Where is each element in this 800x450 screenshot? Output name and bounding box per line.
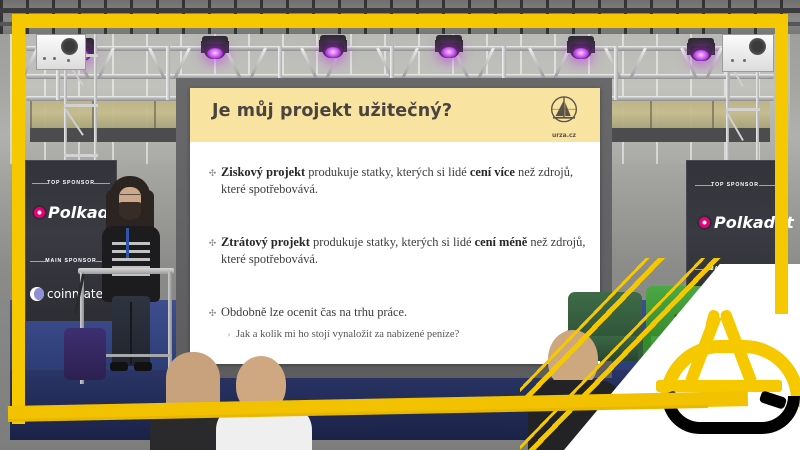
slide-body: ✣ Ziskový projekt produkuje statky, kter… <box>190 142 600 364</box>
coinmate-logo-mark-left <box>30 287 44 301</box>
top-sponsor-label-right: TOP SPONSOR <box>687 182 783 188</box>
bullet-2-mid: produkuje statky, kterých si lidé <box>310 235 475 249</box>
bullet-1-mid: produkuje statky, kterých si lidé <box>305 165 470 179</box>
moving-head-light <box>200 36 230 62</box>
broadcast-video-frame: TOP SPONSOR Polkadot MAIN SPONSOR coinma… <box>0 0 800 450</box>
slide-sub-bullet: › Jak a kolik mi ho stojí vynaložit za n… <box>224 328 594 342</box>
moving-head-light <box>434 35 464 61</box>
presentation-slide: Je můj projekt užitečný? urza.cz ✣ Zisko… <box>190 88 600 364</box>
bullet-3-text: Obdobně lze ocenit čas na trhu práce. <box>221 304 590 321</box>
purple-bag <box>64 328 106 380</box>
light-lens <box>573 48 589 59</box>
bullet-glyph-icon: ✣ <box>206 235 219 252</box>
moving-head-light <box>566 36 596 62</box>
sub-bullet-glyph-icon: › <box>224 328 234 342</box>
slide-bullet-2: ✣ Ztrátový projekt produkuje statky, kte… <box>206 234 590 267</box>
slide-title: Je můj projekt užitečný? <box>212 101 452 121</box>
moving-head-light <box>318 35 348 61</box>
urza-logo-caption: urza.cz <box>542 132 586 139</box>
bullet-glyph-icon: ✣ <box>206 305 219 322</box>
truss-rail <box>26 46 774 51</box>
frame-border-right <box>775 14 788 314</box>
lectern <box>78 268 174 384</box>
bullet-1-lead: Ziskový projekt <box>221 165 305 179</box>
sub-bullet-text: Jak a kolik mi ho stojí vynaložit za nab… <box>236 328 594 342</box>
light-lens <box>207 48 223 59</box>
light-lens <box>441 47 457 58</box>
slide-bullet-1: ✣ Ziskový projekt produkuje statky, kter… <box>206 164 590 197</box>
bullet-glyph-icon: ✣ <box>206 165 219 182</box>
bullet-2-emph: cení méně <box>475 235 528 249</box>
equipment-box-right <box>722 34 774 72</box>
light-lens <box>325 47 341 58</box>
slide-bullet-3: ✣ Obdobně lze ocenit čas na trhu práce. <box>206 304 590 321</box>
light-lens <box>693 50 709 61</box>
bullet-2-lead: Ztrátový projekt <box>221 235 310 249</box>
bullet-1-emph: cení více <box>470 165 515 179</box>
frame-border-left <box>12 14 25 424</box>
moving-head-light <box>686 38 716 64</box>
glasses-icon <box>120 194 140 200</box>
ceiling-beam <box>0 8 800 13</box>
frame-border-top <box>12 14 788 28</box>
urza-sailboat-logo: urza.cz <box>542 94 586 138</box>
lanyard <box>126 228 129 258</box>
equipment-box-left <box>36 34 86 70</box>
polkadot-logo-mark-right <box>697 215 712 230</box>
polkadot-logo-mark-left <box>32 205 47 220</box>
